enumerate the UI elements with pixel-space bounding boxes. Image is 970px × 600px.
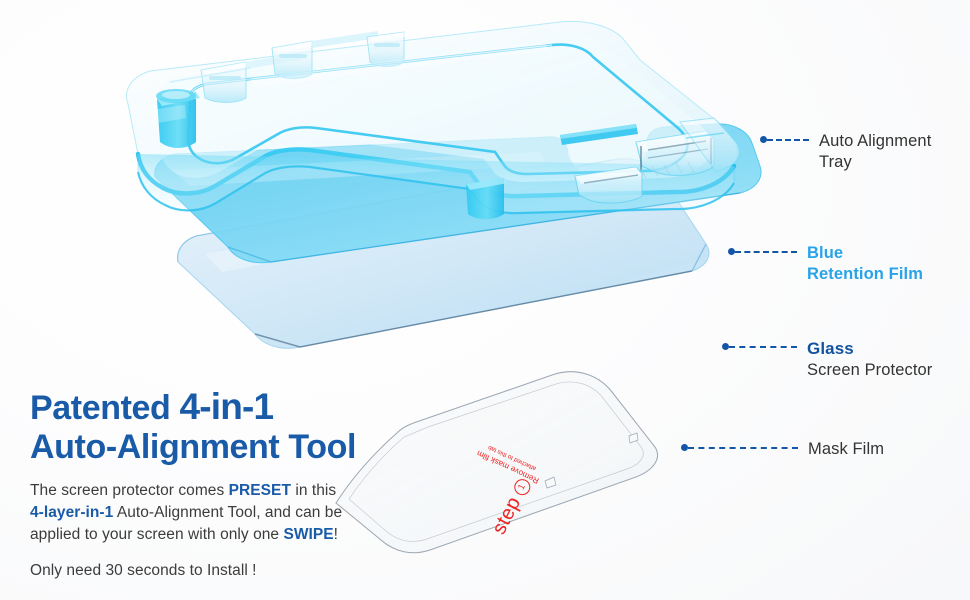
callout-dot-icon [722, 343, 729, 350]
callout-blue-retention-film: Blue Retention Film [728, 243, 923, 286]
install-time-note: Only need 30 seconds to Install ! [30, 560, 450, 582]
callout-leader-line [729, 346, 797, 348]
callout-leader-line [688, 447, 798, 449]
callout-mask-film: Mask Film [681, 439, 884, 460]
desc-part-4: applied to your screen with only one [30, 526, 283, 543]
callout-dot-icon [760, 136, 767, 143]
callout-text: Glass Screen Protector [807, 338, 932, 382]
callout-label-line1: Glass [807, 338, 932, 360]
callout-label-line2: Retention Film [807, 264, 923, 285]
infographic-canvas: Remove mask film attached to this tab st… [0, 0, 970, 600]
callout-glass-screen-protector: Glass Screen Protector [722, 338, 932, 382]
callout-dot-icon [728, 248, 735, 255]
headline-prefix: Patented [30, 389, 179, 427]
callout-auto-alignment-tray: Auto Alignment Tray [760, 131, 931, 174]
callout-text: Mask Film [808, 439, 884, 460]
callout-leader-line [735, 251, 797, 253]
desc-swipe: SWIPE [283, 526, 333, 543]
page-title: Patented 4-in-1 Auto-Alignment Tool [30, 386, 450, 466]
callout-label-line1: Auto Alignment [819, 131, 931, 152]
callout-label-line1: Blue [807, 243, 923, 264]
callout-label-line1: Mask Film [808, 439, 884, 460]
desc-part-3: Auto-Alignment Tool, and can be [113, 504, 342, 521]
desc-part-2: in this [291, 482, 336, 499]
callout-label-line2: Screen Protector [807, 360, 932, 381]
callout-leader-line [767, 139, 809, 141]
headline-line2: Auto-Alignment Tool [30, 428, 450, 466]
desc-preset: PRESET [229, 482, 291, 499]
callout-dot-icon [681, 444, 688, 451]
description-paragraph: The screen protector comes PRESET in thi… [30, 480, 450, 546]
callout-label-line2: Tray [819, 152, 931, 173]
callout-text: Auto Alignment Tray [819, 131, 931, 174]
callout-text: Blue Retention Film [807, 243, 923, 286]
marketing-copy-block: Patented 4-in-1 Auto-Alignment Tool The … [30, 386, 450, 582]
desc-part-5: ! [334, 526, 338, 543]
headline-4in1: 4-in-1 [179, 386, 273, 427]
desc-4-layer: 4-layer-in-1 [30, 504, 113, 521]
desc-part-1: The screen protector comes [30, 482, 229, 499]
